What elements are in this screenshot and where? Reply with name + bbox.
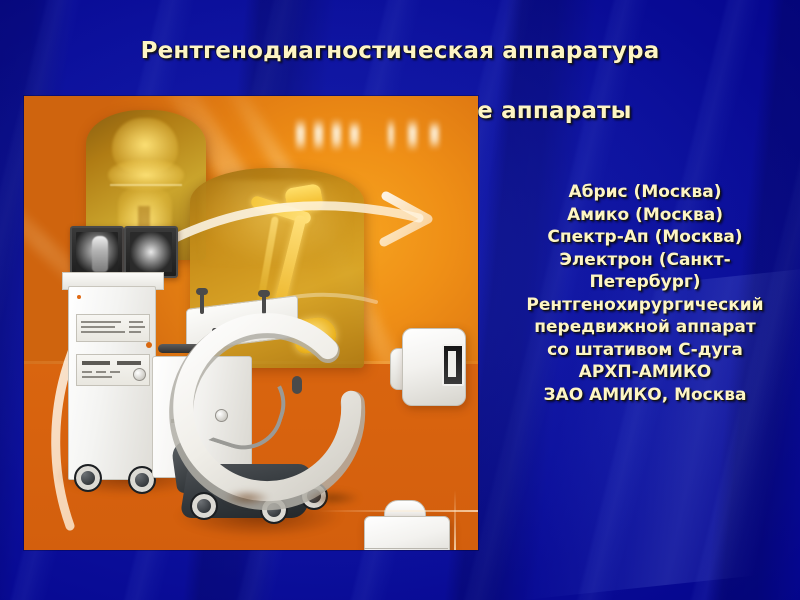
caption-line: АРХП-АМИКО — [495, 361, 795, 384]
image-intensifier-seam — [364, 548, 448, 549]
slide: Рентгенодиагностическая аппаратура Рентг… — [0, 0, 800, 600]
caption-line: ЗАО АМИКО, Москва — [495, 384, 795, 407]
photo-smudge — [224, 490, 270, 506]
image-intensifier-head — [364, 516, 450, 550]
emitter-window — [442, 344, 464, 386]
caption-line: со штативом С-дуга — [495, 339, 795, 362]
caption-line: Петербург) — [495, 271, 795, 294]
caption-line: передвижной аппарат — [495, 316, 795, 339]
caption-line: Электрон (Санкт- — [495, 249, 795, 272]
photo-grid-line-vertical — [454, 490, 456, 550]
caption-line: Амико (Москва) — [495, 204, 795, 227]
equipment-photo — [24, 96, 478, 550]
title-line-1: Рентгенодиагностическая аппаратура — [0, 36, 800, 66]
caption-block: Абрис (Москва) Амико (Москва) Спектр-Ап … — [495, 181, 795, 406]
caption-line: Рентгенохирургический — [495, 294, 795, 317]
photo-smudge — [304, 490, 360, 506]
caption-line: Абрис (Москва) — [495, 181, 795, 204]
caption-line: Спектр-Ап (Москва) — [495, 226, 795, 249]
equipment-group — [24, 96, 478, 550]
c-arm-ring — [24, 96, 478, 550]
